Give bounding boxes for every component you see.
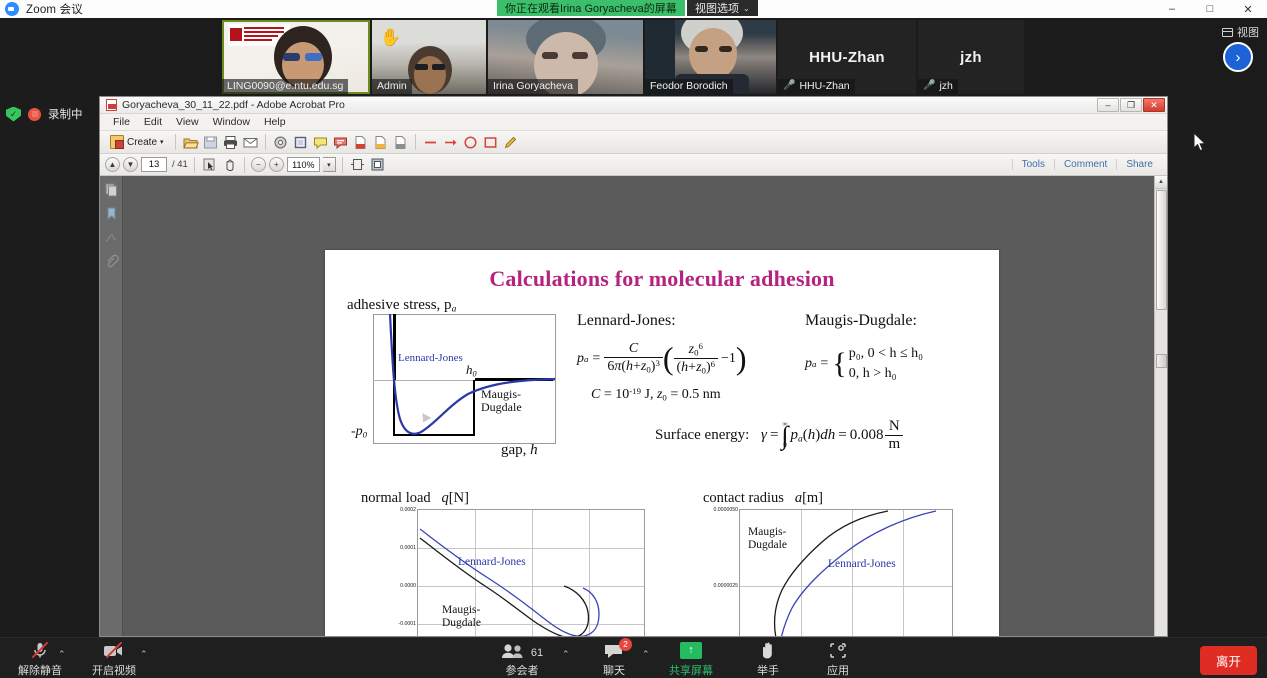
chart2-label-maugis-dugdale: Maugis-Dugdale	[748, 526, 787, 551]
menu-view[interactable]: View	[169, 115, 206, 129]
acrobat-title: Goryacheva_30_11_22.pdf - Adobe Acrobat …	[122, 99, 345, 111]
mic-muted-icon	[31, 641, 49, 659]
participant-tile-irina-goryacheva[interactable]: Irina Goryacheva	[488, 20, 643, 94]
scrollbar-split-grip[interactable]	[1156, 354, 1167, 368]
participant-tile-hhu-zhan[interactable]: HHU-Zhan 🎤 HHU-Zhan	[778, 20, 916, 94]
participants-button[interactable]: 61 参会者	[490, 641, 554, 678]
chart1-title: normal load q[N]	[361, 490, 661, 507]
zoom-dropdown-button[interactable]: ▾	[323, 157, 336, 172]
chat-button-label: 聊天	[603, 662, 625, 678]
participant-tile-jzh[interactable]: jzh 🎤 jzh	[918, 20, 1024, 94]
acrobat-document-area: Calculations for molecular adhesion adhe…	[100, 176, 1167, 636]
page-number-input[interactable]: 13	[141, 157, 167, 172]
page-total-label: / 41	[172, 159, 188, 170]
fit-page-icon[interactable]	[369, 156, 386, 173]
participants-count: 61	[531, 648, 543, 659]
toolbar-separator	[244, 157, 245, 173]
slide-title: Calculations for molecular adhesion	[325, 266, 999, 292]
participant-name-text: Irina Goryacheva	[493, 80, 573, 92]
stress-plot-h0-label: h0	[466, 362, 477, 378]
mic-muted-icon: 🎤	[783, 81, 795, 91]
leave-meeting-button[interactable]: 离开	[1200, 646, 1257, 675]
z0-value: 0.5 nm	[682, 387, 721, 402]
chart2-ytick: 0.0000025	[713, 583, 738, 589]
participant-name-text: jzh	[939, 80, 952, 92]
share-screen-button-label: 共享屏幕	[669, 662, 713, 678]
negp0-sub: 0	[363, 430, 367, 440]
share-screen-button[interactable]: ↑ 共享屏幕	[659, 641, 723, 678]
surface-energy-value: 0.008	[850, 427, 884, 444]
export-pdf-icon[interactable]	[352, 134, 369, 151]
zoom-level-input[interactable]: 110%	[287, 157, 320, 172]
mouse-pointer-icon	[1193, 132, 1207, 158]
participants-button-label: 参会者	[506, 662, 539, 678]
h0-sub: 0	[473, 369, 477, 378]
open-file-icon[interactable]	[182, 134, 199, 151]
chevron-down-icon: ▾	[160, 138, 164, 146]
participants-caret-icon[interactable]: ⌃	[562, 649, 570, 660]
close-button[interactable]: ✕	[1229, 0, 1267, 18]
select-tool-icon[interactable]	[201, 156, 218, 173]
raise-hand-icon	[760, 641, 776, 659]
view-options-button[interactable]: 视图选项 ⌄	[687, 0, 758, 16]
zoom-bottom-toolbar: 解除静音 ⌃ 开启视频 ⌃ 61 参会者 ⌃	[0, 637, 1267, 678]
lennard-jones-block: Lennard-Jones: pa = C 6π(h+z0)3 ( z06	[577, 312, 792, 403]
video-options-caret-icon[interactable]: ⌃	[140, 649, 148, 660]
pencil-tool-icon[interactable]	[502, 134, 519, 151]
menu-window[interactable]: Window	[206, 115, 257, 129]
mic-muted-icon: 🎤	[923, 81, 935, 91]
chart1-label-maugis-dugdale: Maugis-Dugdale	[442, 604, 481, 629]
video-button[interactable]: 开启视频	[82, 641, 146, 678]
chat-button[interactable]: 2 聊天	[582, 641, 646, 678]
apps-button[interactable]: 应用	[806, 641, 870, 678]
view-button[interactable]: 视图	[1222, 24, 1259, 40]
recording-indicator: 录制中	[6, 106, 83, 122]
stress-plot-negp0-label: -p0	[351, 424, 367, 440]
ellipse-tool-icon[interactable]	[462, 134, 479, 151]
attachments-icon[interactable]	[104, 254, 119, 269]
menu-edit[interactable]: Edit	[137, 115, 169, 129]
settings-icon[interactable]	[272, 134, 289, 151]
lj-fraction-1: C 6π(h+z0)3	[604, 341, 663, 375]
toolbar-separator	[265, 134, 266, 150]
chart2-plotbox: 0.0000050 0.0000025 0.0000000 -0.0002 0.…	[739, 509, 953, 636]
pdf-file-icon	[106, 99, 117, 111]
chat-unread-badge: 2	[619, 638, 632, 651]
maximize-button[interactable]: □	[1191, 0, 1229, 18]
participant-name-text: HHU-Zhan	[799, 80, 849, 92]
video-off-icon	[103, 641, 125, 659]
participant-name-label: Feodor Borodich	[645, 79, 733, 94]
negp0-symbol: -p	[351, 424, 363, 439]
maugis-dugdale-block: Maugis-Dugdale: pa = { p₀, 0 < h ≤ h₀ 0,…	[805, 312, 995, 385]
line-tool-icon[interactable]	[422, 134, 439, 151]
stress-plot-x-label: gap, h	[501, 442, 538, 459]
tools-link[interactable]: Tools	[1012, 159, 1054, 170]
menu-file[interactable]: File	[106, 115, 137, 129]
signature-icon[interactable]	[104, 230, 119, 245]
previous-page-button[interactable]: ▲	[105, 157, 120, 172]
raised-hand-icon: ✋	[380, 28, 401, 48]
chat-icon: 2	[604, 641, 624, 659]
stress-plot-y-label-text: adhesive stress, p	[347, 297, 452, 313]
acrobat-restore-button[interactable]: ❐	[1120, 98, 1142, 112]
participant-name-label: LING0090@e.ntu.edu.sg	[222, 79, 348, 94]
participant-name-label: Irina Goryacheva	[488, 79, 578, 94]
chart1-ytick: -0.0001	[398, 621, 416, 627]
video-button-label: 开启视频	[92, 662, 136, 678]
participant-name-label: Admin	[372, 79, 412, 94]
scroll-up-button[interactable]: ▲	[1155, 176, 1167, 189]
save-icon[interactable]	[202, 134, 219, 151]
hand-tool-icon[interactable]	[221, 156, 238, 173]
chart1-ytick: 0.0001	[400, 545, 416, 551]
participants-icon: 61	[501, 641, 543, 659]
zoom-logo-icon	[5, 2, 19, 16]
adhesive-stress-schematic: Lennard-Jones h0 Maugis-Dugdale -p0 gap,…	[373, 314, 556, 444]
acrobat-right-links: Tools Comment Share	[1012, 159, 1162, 170]
acrobat-minimize-button[interactable]: –	[1097, 98, 1119, 112]
page-thumbnails-icon[interactable]	[104, 182, 119, 197]
raise-hand-button-label: 举手	[757, 662, 779, 678]
toolbar-separator	[415, 134, 416, 150]
participant-name-text: Admin	[377, 80, 407, 92]
create-button-label: Create	[127, 137, 157, 148]
participant-name-text: Feodor Borodich	[650, 80, 728, 92]
stress-plot-y-label-sub: a	[452, 305, 457, 315]
surface-energy-label: Surface energy:	[655, 427, 749, 443]
chart2-series-maugis-dugdale	[775, 511, 888, 636]
zoom-out-button[interactable]: −	[251, 157, 266, 172]
chart-normal-load: normal load q[N] 0.0002	[361, 490, 661, 636]
create-pdf-icon	[110, 135, 124, 149]
pdf-page: Calculations for molecular adhesion adhe…	[325, 250, 999, 636]
screen-share-banner: 你正在观看Irina Goryacheva的屏幕	[497, 0, 685, 16]
raise-hand-button[interactable]: 举手	[736, 641, 800, 678]
participant-name-label: 🎤 HHU-Zhan	[778, 79, 855, 94]
md-case-2: 0, h > h₀	[849, 364, 923, 384]
share-link[interactable]: Share	[1116, 159, 1162, 170]
stress-plot-lj-label: Lennard-Jones	[398, 352, 463, 364]
chart1-plotbox: 0.0002 0.0001 0.0000 -0.0001 -0.0002 -2.…	[417, 509, 645, 636]
screen-root: Zoom 会议 – □ ✕ 你正在观看Irina Goryacheva的屏幕 视…	[0, 0, 1267, 678]
grid-view-icon	[1222, 28, 1233, 37]
arrow-tool-icon[interactable]	[442, 134, 459, 151]
lj-fraction-2: z06 (h+z0)6	[674, 341, 719, 376]
crop-icon[interactable]	[292, 134, 309, 151]
zoom-window-title: Zoom 会议	[26, 1, 83, 17]
recording-label: 录制中	[48, 106, 83, 122]
scrollbar-thumb[interactable]	[1156, 190, 1167, 310]
chart1-label-lennard-jones: Lennard-Jones	[458, 556, 526, 568]
highlight-comment-icon[interactable]	[332, 134, 349, 151]
menu-help[interactable]: Help	[257, 115, 293, 129]
mic-button-label: 解除静音	[18, 662, 62, 678]
stress-plot-md-label: Maugis-Dugdale	[481, 388, 522, 413]
apps-button-label: 应用	[827, 662, 849, 678]
pdf-vertical-scrollbar[interactable]: ▲	[1154, 176, 1167, 636]
next-page-button[interactable]: ▼	[123, 157, 138, 172]
chart2-label-lennard-jones: Lennard-Jones	[828, 558, 896, 570]
lennard-jones-heading: Lennard-Jones:	[577, 312, 792, 330]
acrobat-close-button[interactable]: ✕	[1143, 98, 1165, 112]
chart1-ytick: 0.0000	[400, 583, 416, 589]
acrobat-main-toolbar: Create ▾	[100, 131, 1167, 154]
participant-tile-ling0090[interactable]: LING0090@e.ntu.edu.sg	[222, 20, 370, 94]
chevron-down-icon: ⌄	[743, 4, 750, 13]
filmstrip-next-button[interactable]: ›	[1223, 42, 1253, 72]
surface-energy-unit-num: N	[885, 418, 903, 436]
create-button[interactable]: Create ▾	[105, 133, 169, 151]
toolbar-separator	[342, 157, 343, 173]
acrobat-titlebar: Goryacheva_30_11_22.pdf - Adobe Acrobat …	[100, 97, 1167, 114]
surface-energy-unit-den: m	[885, 436, 903, 453]
md-case-1: p₀, 0 < h ≤ h₀	[849, 344, 923, 364]
stress-plot-y-label: adhesive stress, pa	[347, 297, 456, 315]
acrobat-menubar: File Edit View Window Help	[100, 114, 1167, 131]
c-exponent: -19	[629, 386, 641, 396]
record-stop-icon[interactable]	[28, 108, 41, 121]
acrobat-navigation-rail	[100, 176, 123, 636]
participant-filmstrip: LING0090@e.ntu.edu.sg ✋ Admin Irina Gory…	[0, 18, 1267, 96]
toolbar-separator	[175, 134, 176, 150]
maugis-dugdale-formula: pa = { p₀, 0 < h ≤ h₀ 0, h > h₀	[805, 344, 995, 385]
chart2-series-lennard-jones	[776, 511, 936, 636]
edit-pdf-icon[interactable]	[392, 134, 409, 151]
formula-p-sub: a	[584, 354, 588, 364]
email-icon[interactable]	[242, 134, 259, 151]
mic-options-caret-icon[interactable]: ⌃	[58, 649, 66, 660]
sticky-note-icon[interactable]	[312, 134, 329, 151]
participant-tile-feodor-borodich[interactable]: Feodor Borodich	[645, 20, 776, 94]
zoom-window-controls: – □ ✕	[1153, 0, 1267, 18]
minimize-button[interactable]: –	[1153, 0, 1191, 18]
c-value: 10	[615, 387, 629, 402]
participant-name-text: LING0090@e.ntu.edu.sg	[227, 80, 343, 92]
chart2-ytick: 0.0000050	[713, 507, 738, 513]
surface-energy-line: Surface energy: γ= ∞∫0 pa(h)dh = 0.008 N	[655, 418, 903, 453]
acrobat-window-controls: – ❐ ✕	[1097, 98, 1165, 112]
view-options-label: 视图选项	[695, 0, 739, 16]
fit-width-icon[interactable]	[349, 156, 366, 173]
shield-check-icon	[6, 107, 21, 122]
acrobat-window: Goryacheva_30_11_22.pdf - Adobe Acrobat …	[99, 96, 1168, 637]
chart2-title: contact radius a[m]	[703, 490, 993, 507]
rectangle-tool-icon[interactable]	[482, 134, 499, 151]
formula-p: p	[577, 351, 584, 367]
maugis-dugdale-heading: Maugis-Dugdale:	[805, 312, 995, 330]
participant-tile-admin[interactable]: ✋ Admin	[372, 20, 486, 94]
pdf-page-viewport[interactable]: Calculations for molecular adhesion adhe…	[123, 176, 1154, 636]
chart-contact-radius: contact radius a[m] 0.0000050 0.0000025 …	[703, 490, 993, 636]
participant-name-label: 🎤 jzh	[918, 79, 958, 94]
apps-icon	[829, 641, 847, 659]
toolbar-separator	[194, 157, 195, 173]
chat-caret-icon[interactable]: ⌃	[642, 649, 650, 660]
share-screen-icon: ↑	[680, 641, 702, 659]
lennard-jones-curve	[373, 314, 556, 444]
create-pdf-file-icon[interactable]	[372, 134, 389, 151]
view-button-label: 视图	[1237, 24, 1259, 40]
lennard-jones-constants: C = 10-19 J, z0 = 0.5 nm	[591, 386, 792, 403]
lennard-jones-formula: pa = C 6π(h+z0)3 ( z06 (h+z0)6 −1	[577, 340, 792, 377]
chart1-ytick: 0.0002	[400, 507, 416, 513]
acrobat-page-toolbar: ▲ ▼ 13 / 41 − + 110% ▾ Tools	[100, 154, 1167, 176]
zoom-in-button[interactable]: +	[269, 157, 284, 172]
bookmarks-icon[interactable]	[104, 206, 119, 221]
comment-link[interactable]: Comment	[1054, 159, 1116, 170]
print-icon[interactable]	[222, 134, 239, 151]
